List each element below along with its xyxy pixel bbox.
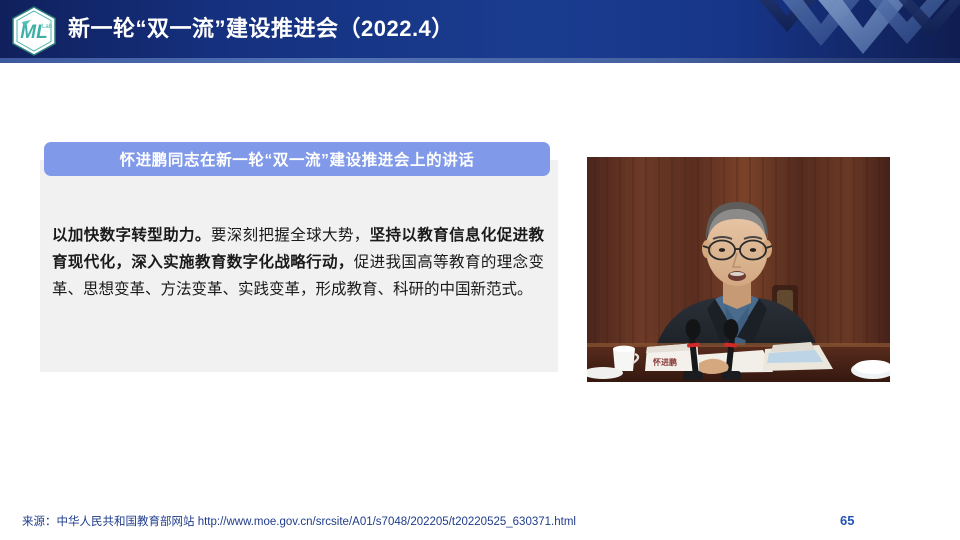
page-title: 新一轮“双一流”建设推进会（2022.4） (68, 0, 454, 58)
page-number: 65 (840, 513, 854, 528)
header-chevron-pattern (735, 0, 960, 58)
source-citation: 来源：中华人民共和国教育部网站 http://www.moe.gov.cn/sr… (22, 513, 576, 529)
meeting-photo: 怀进鹏 (587, 157, 890, 382)
meeting-photo-image: 怀进鹏 (587, 157, 890, 382)
quote-segment-bold-1: 以加快数字转型助力。 (52, 227, 211, 244)
ml-lab-logo-icon: ML Lab (11, 6, 57, 56)
svg-text:怀进鹏: 怀进鹏 (653, 357, 677, 367)
quote-card-title-bar: 怀进鹏同志在新一轮“双一流”建设推进会上的讲话 (44, 142, 550, 176)
header-accent-underline (0, 58, 960, 63)
quote-card-title: 怀进鹏同志在新一轮“双一流”建设推进会上的讲话 (120, 148, 475, 170)
quote-card-body: 以加快数字转型助力。要深刻把握全球大势，坚持以教育信息化促进教育现代化，深入实施… (52, 222, 544, 303)
svg-text:Lab: Lab (42, 24, 53, 30)
quote-segment-regular-1: 要深刻把握全球大势， (211, 227, 370, 244)
slide-header: ML Lab 新一轮“双一流”建设推进会（2022.4） (0, 0, 960, 58)
